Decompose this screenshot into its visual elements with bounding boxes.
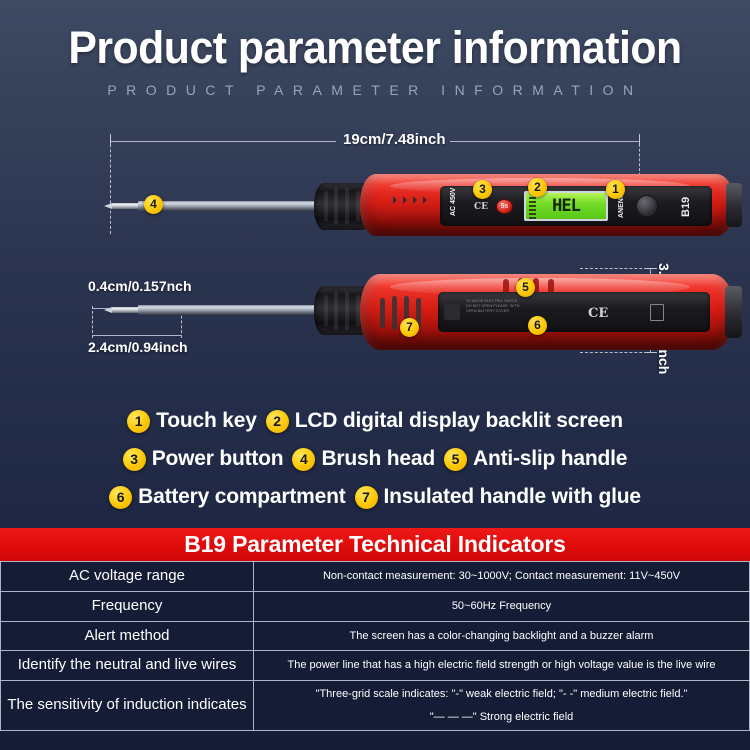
grip-chevron: [403, 196, 407, 204]
legend-label: Power button: [152, 447, 284, 471]
legend-item-anti-slip-handle: 5 Anti-slip handle: [444, 447, 627, 471]
legend-row: 6 Battery compartment 7 Insulated handle…: [0, 478, 750, 516]
legend-badge: 1: [127, 410, 150, 433]
legend-item-power-button: 3 Power button: [123, 447, 284, 471]
height-tick-bottom: [646, 352, 655, 353]
spec-table: AC voltage range Non-contact measurement…: [0, 561, 750, 731]
brush-head-tip: [112, 203, 140, 209]
legend-item-battery-compartment: 6 Battery compartment: [109, 485, 345, 509]
page-header: Product parameter information PRODUCT PA…: [0, 0, 750, 118]
spec-table-section: B19 Parameter Technical Indicators AC vo…: [0, 528, 750, 731]
table-row: Frequency 50~60Hz Frequency: [1, 591, 750, 621]
legend-label: Battery compartment: [138, 485, 345, 509]
voltage-marking-label: AC 450V: [450, 188, 457, 216]
legend-badge: 5: [444, 448, 467, 471]
table-row: Identify the neutral and live wires The …: [1, 651, 750, 681]
param-value: 50~60Hz Frequency: [254, 591, 750, 621]
grip-chevron: [423, 196, 427, 204]
touch-key[interactable]: [636, 195, 658, 217]
legend-badge: 3: [123, 448, 146, 471]
lcd-value: HEL: [526, 196, 606, 216]
param-label: Identify the neutral and live wires: [1, 651, 254, 681]
spec-table-banner: B19 Parameter Technical Indicators: [0, 528, 750, 561]
legend-list: 1 Touch key 2 LCD digital display backli…: [0, 402, 750, 524]
page-subtitle: PRODUCT PARAMETER INFORMATION: [0, 82, 750, 98]
marker-3: 3: [473, 180, 492, 199]
battery-warning-text: TO AVOID ELECTRIC SHOCK DO NOT OPEN PLEA…: [466, 299, 524, 314]
dimension-line-length-right: [450, 141, 639, 142]
power-button[interactable]: 5s: [496, 199, 513, 214]
marker-6: 6: [528, 316, 547, 335]
param-value: The power line that has a high electric …: [254, 651, 750, 681]
grip-chevron: [393, 196, 397, 204]
grip-chevron: [413, 196, 417, 204]
device-shaft: [138, 201, 323, 211]
table-row: The sensitivity of induction indicates "…: [1, 681, 750, 731]
param-label: The sensitivity of induction indicates: [1, 681, 254, 731]
page-title: Product parameter information: [19, 22, 732, 74]
battery-latch: [444, 304, 460, 320]
device-bottom: TO AVOID ELECTRIC SHOCK DO NOT OPEN PLEA…: [108, 274, 643, 350]
product-diagram: 19cm/7.48inch: [0, 118, 750, 400]
legend-badge: 2: [266, 410, 289, 433]
table-row: Alert method The screen has a color-chan…: [1, 621, 750, 651]
dimension-line-length-left: [110, 141, 336, 142]
legend-label: Anti-slip handle: [473, 447, 627, 471]
grip-wave: [380, 298, 385, 328]
tip-guide-left: [92, 306, 93, 338]
marker-5: 5: [516, 278, 535, 297]
marker-2: 2: [528, 178, 547, 197]
param-value-multiline: "Three-grid scale indicates: "-" weak el…: [254, 681, 750, 731]
legend-item-lcd-screen: 2 LCD digital display backlit screen: [266, 409, 623, 433]
param-label: AC voltage range: [1, 562, 254, 592]
legend-label: Brush head: [321, 447, 435, 471]
legend-item-brush-head: 4 Brush head: [292, 447, 435, 471]
table-row: AC voltage range Non-contact measurement…: [1, 562, 750, 592]
legend-label: Touch key: [156, 409, 257, 433]
device-shaft-bottom: [138, 305, 323, 315]
marker-1: 1: [606, 180, 625, 199]
param-value-line2: "— — —" Strong electric field: [258, 709, 745, 726]
spec-table-title: B19 Parameter Technical Indicators: [184, 531, 565, 558]
grip-wave: [392, 296, 397, 330]
marker-7: 7: [400, 318, 419, 337]
legend-label: LCD digital display backlit screen: [295, 409, 623, 433]
dimension-tick-left: [110, 136, 111, 145]
ce-mark-icon-bottom: CE: [588, 306, 608, 321]
param-label: Alert method: [1, 621, 254, 651]
handle-endcap-bottom: [725, 286, 742, 338]
param-value: The screen has a color-changing backligh…: [254, 621, 750, 651]
legend-badge: 4: [292, 448, 315, 471]
device-top: AC 450V CE 5s HEL ANENG B19: [108, 174, 643, 236]
marker-4: 4: [144, 195, 163, 214]
legend-badge: 7: [355, 486, 378, 509]
legend-badge: 6: [109, 486, 132, 509]
param-value-line1: "Three-grid scale indicates: "-" weak el…: [316, 688, 688, 700]
ce-mark-icon: CE: [474, 202, 488, 212]
legend-item-insulated-handle: 7 Insulated handle with glue: [355, 485, 641, 509]
legend-item-touch-key: 1 Touch key: [127, 409, 257, 433]
legend-row: 3 Power button 4 Brush head 5 Anti-slip …: [0, 440, 750, 478]
param-label: Frequency: [1, 591, 254, 621]
param-value: Non-contact measurement: 30~1000V; Conta…: [254, 562, 750, 592]
weee-icon: [650, 304, 664, 321]
dimension-label-length: 19cm/7.48inch: [343, 131, 446, 148]
battery-compartment[interactable]: TO AVOID ELECTRIC SHOCK DO NOT OPEN PLEA…: [438, 292, 710, 332]
legend-row: 1 Touch key 2 LCD digital display backli…: [0, 402, 750, 440]
dimension-tick-right: [639, 136, 640, 145]
handle-endcap: [726, 183, 742, 227]
model-label: B19: [680, 197, 692, 217]
legend-label: Insulated handle with glue: [384, 485, 641, 509]
height-tick-top: [646, 268, 655, 269]
brush-head-tip-bottom: [112, 307, 140, 313]
